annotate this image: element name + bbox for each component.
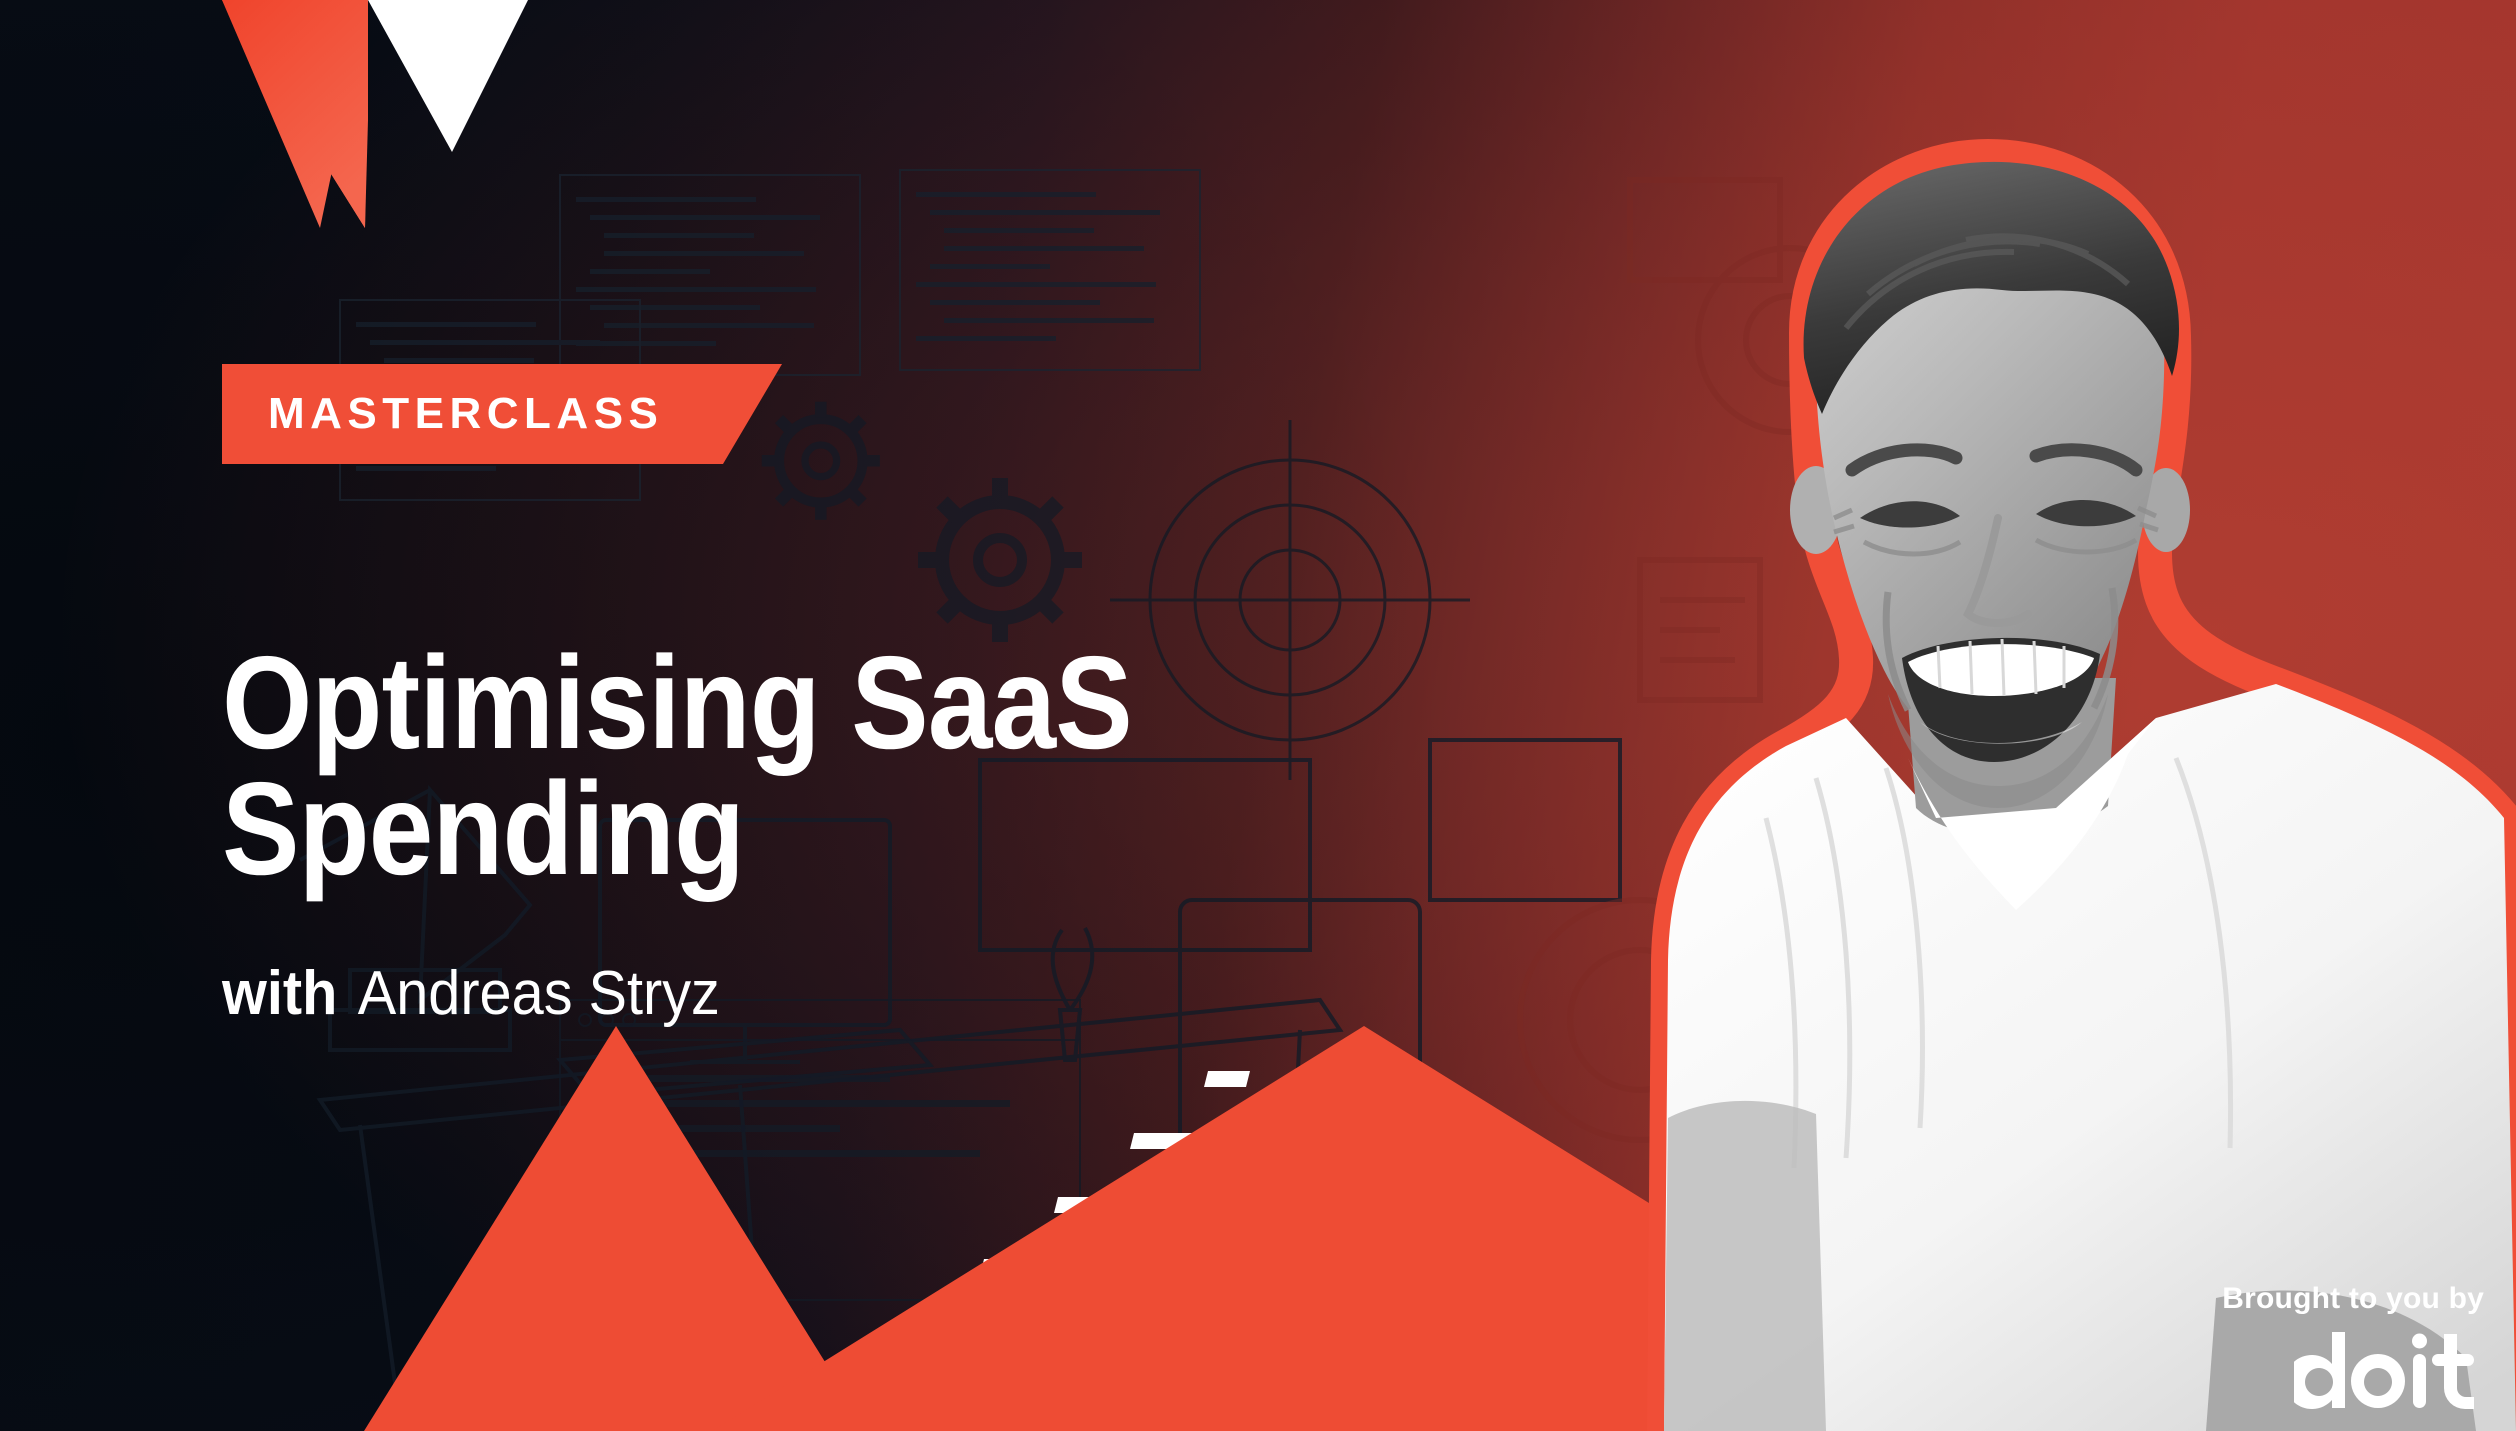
presenter-name: Andreas Stryz	[358, 959, 720, 1028]
headline-line-2: Spending	[222, 766, 1234, 891]
masterclass-promo-banner: MASTERCLASS Optimising SaaS Spending wit…	[0, 0, 2516, 1431]
banner-content: MASTERCLASS Optimising SaaS Spending wit…	[222, 0, 1422, 1431]
brand-footer: Brought to you by	[2164, 1284, 2484, 1417]
masterclass-badge: MASTERCLASS	[222, 364, 782, 464]
presenter-prefix: with	[222, 959, 337, 1028]
page-title: Optimising SaaS Spending	[222, 640, 1234, 891]
presenter-credit: withAndreas Stryz	[222, 963, 720, 1025]
brand-kicker: Brought to you by	[2164, 1284, 2484, 1314]
doit-logo	[2294, 1328, 2484, 1412]
masterclass-badge-label: MASTERCLASS	[268, 392, 663, 436]
headline-line-1: Optimising SaaS	[222, 640, 1234, 765]
